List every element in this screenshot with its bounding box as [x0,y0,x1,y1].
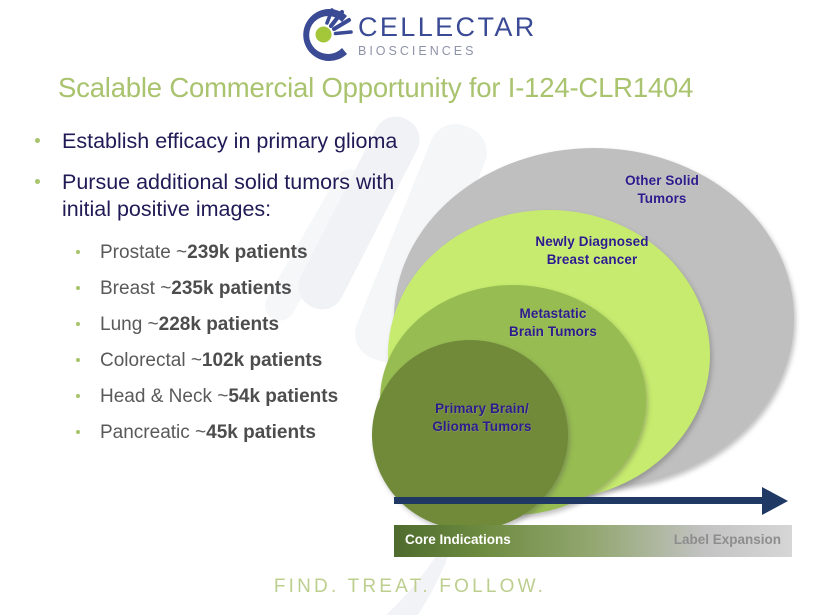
slide-canvas: CELLECTAR BIOSCIENCES Scalable Commercia… [0,0,820,615]
logo-company-name: CELLECTAR [358,14,537,41]
sub-bullet-value: 102k patients [202,350,322,371]
sub-bullet-item: Colorectal ~102k patients [22,349,422,373]
oval-label-line1: Newly Diagnosed [492,233,692,251]
sub-bullet-label: Breast ~ [100,278,171,299]
sub-bullet-item: Lung ~228k patients [22,313,422,337]
oval-label-newly-diagnosed-breast-cancer: Newly Diagnosed Breast cancer [492,233,692,269]
progression-arrow-line [394,497,772,504]
page-title: Scalable Commercial Opportunity for I-12… [58,72,778,104]
oval-label-line2: Breast cancer [492,251,692,269]
sub-bullet-label: Lung ~ [100,314,159,335]
sub-bullet-value: 45k patients [206,422,316,443]
bullet-dot-icon [35,179,40,184]
oval-label-line2: Tumors [567,190,757,208]
bullet-text: Establish efficacy in primary glioma [62,129,397,153]
bullet-list: Establish efficacy in primary glioma Pur… [22,128,422,457]
sub-bullet-label: Prostate ~ [100,242,187,263]
footer-tagline: FIND. TREAT. FOLLOW. [0,576,820,598]
sub-bullet-value: 235k patients [171,278,291,299]
bullet-dot-icon [76,286,80,290]
sub-bullet-label: Pancreatic ~ [100,422,206,443]
bullet-dot-icon [76,394,80,398]
right-arrow-icon [762,487,788,515]
bullet-item: Pursue additional solid tumors with init… [22,169,422,223]
oval-label-line1: Metastatic [458,305,648,323]
expansion-scale-bar: Core Indications Label Expansion [394,525,792,557]
sub-bullet-label: Colorectal ~ [100,350,202,371]
oval-label-primary-brain-glioma-tumors: Primary Brain/ Glioma Tumors [392,400,572,436]
sub-bullet-item: Pancreatic ~45k patients [22,421,422,445]
nested-ovals-diagram: Other Solid Tumors Newly Diagnosed Breas… [372,140,802,500]
bullet-dot-icon [76,250,80,254]
bullet-item: Establish efficacy in primary glioma [22,128,422,155]
oval-label-line1: Other Solid [567,172,757,190]
scale-label-label-expansion: Label Expansion [674,532,781,547]
logo-wordmark: CELLECTAR BIOSCIENCES [358,14,537,58]
logo-company-sub: BIOSCIENCES [358,45,537,58]
cellectar-c-burst-icon [298,8,356,62]
sub-bullet-item: Breast ~235k patients [22,277,422,301]
oval-label-line1: Primary Brain/ [392,400,572,418]
oval-label-line2: Glioma Tumors [392,418,572,436]
sub-bullet-item: Head & Neck ~54k patients [22,385,422,409]
bullet-dot-icon [76,358,80,362]
sub-bullet-value: 239k patients [187,242,307,263]
oval-label-line2: Brain Tumors [458,323,648,341]
sub-bullet-value: 228k patients [159,314,279,335]
sub-bullet-value: 54k patients [228,386,338,407]
sub-bullet-item: Prostate ~239k patients [22,241,422,265]
bullet-dot-icon [76,322,80,326]
sub-bullet-list: Prostate ~239k patients Breast ~235k pat… [22,241,422,445]
oval-label-metastatic-brain-tumors: Metastatic Brain Tumors [458,305,648,341]
company-logo: CELLECTAR BIOSCIENCES [298,6,518,64]
sub-bullet-label: Head & Neck ~ [100,386,228,407]
bullet-dot-icon [35,138,40,143]
bullet-text: Pursue additional solid tumors with init… [62,170,394,221]
bullet-dot-icon [76,430,80,434]
scale-label-core-indications: Core Indications [405,532,511,547]
oval-label-other-solid-tumors: Other Solid Tumors [567,172,757,208]
